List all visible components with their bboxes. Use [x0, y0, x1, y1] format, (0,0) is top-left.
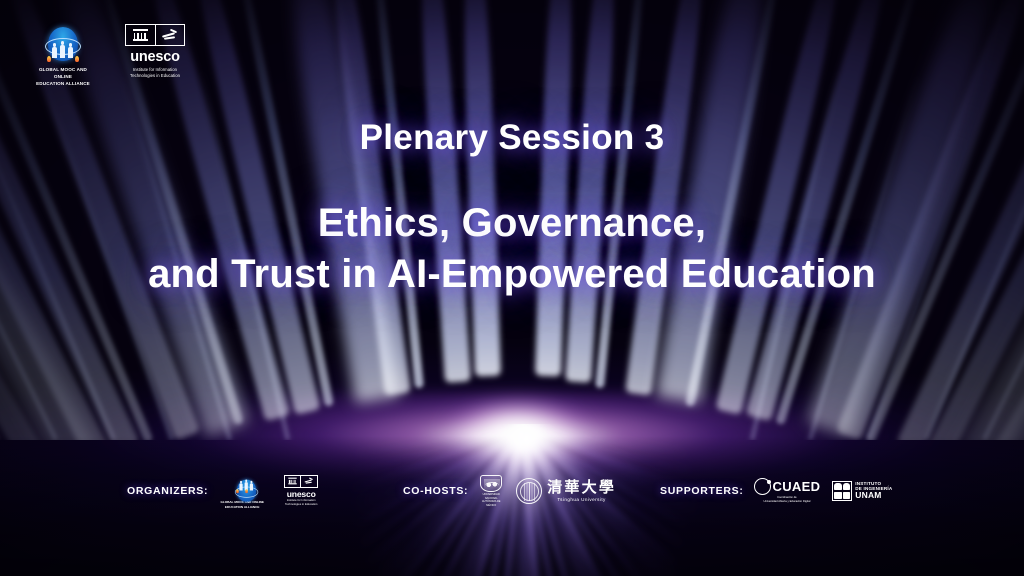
unesco-wordmark: unesco	[287, 490, 316, 499]
global-mooc-alliance-logo: GLOBAL MOOC AND ONLINE EDUCATION ALLIANC…	[30, 24, 96, 88]
cuaed-subtitle: Coordinación de Universidad Abierta y Ed…	[763, 496, 810, 504]
organizer-logo-global-mooc: GLOBAL MOOC AND ONLINE EDUCATION ALLIANC…	[218, 473, 266, 509]
supporters-label: SUPPORTERS:	[660, 485, 744, 497]
title-line-1: Ethics, Governance,	[0, 198, 1024, 249]
session-kicker: Plenary Session 3	[0, 118, 1024, 158]
supporter-logo-instituto-ingenieria: INSTITUTO DE INGENIERÍA UNAM	[832, 481, 892, 501]
unam-caption: UNIVERSIDAD NACIONAL AUTÓNOMA DE MÉXICO	[478, 493, 504, 507]
unesco-temple-dove-icon	[125, 24, 185, 46]
unesco-wordmark: unesco	[130, 50, 180, 65]
title-block: Plenary Session 3 Ethics, Governance, an…	[0, 118, 1024, 300]
header-logo-bar: GLOBAL MOOC AND ONLINE EDUCATION ALLIANC…	[30, 24, 192, 88]
instituto-ingenieria-wordmark: INSTITUTO DE INGENIERÍA UNAM	[855, 482, 892, 501]
tsinghua-name-en: Tsinghua University	[557, 497, 605, 502]
cohosts-logos: UNIVERSIDAD NACIONAL AUTÓNOMA DE MÉXICO …	[478, 475, 616, 507]
organizers-label: ORGANIZERS:	[127, 485, 208, 497]
title-line-2: and Trust in AI-Empowered Education	[0, 249, 1024, 300]
cohosts-label: CO-HOSTS:	[403, 485, 468, 497]
global-mooc-logo-text: GLOBAL MOOC AND ONLINE EDUCATION ALLIANC…	[30, 67, 96, 88]
unesco-iite-logo: unesco Institute for Information Technol…	[118, 24, 192, 80]
tsinghua-seal-icon	[516, 478, 542, 504]
global-mooc-logo-text: GLOBAL MOOC AND ONLINE EDUCATION ALLIANC…	[220, 500, 263, 509]
organizers-logos: GLOBAL MOOC AND ONLINE EDUCATION ALLIANC…	[218, 473, 324, 509]
presentation-slide: GLOBAL MOOC AND ONLINE EDUCATION ALLIANC…	[0, 0, 1024, 576]
unam-shield-icon	[480, 475, 502, 492]
credits-bar: ORGANIZERS: GLOBAL MOOC AND ONLINE EDUCA…	[0, 470, 1024, 512]
unesco-temple-dove-icon	[284, 475, 318, 488]
cuaed-ring-icon	[754, 478, 771, 495]
cuaed-wordmark: CUAED	[773, 479, 821, 494]
unesco-institute-subtitle: Institute for Information Technologies i…	[285, 499, 317, 507]
supporter-logo-cuaed: CUAED Coordinación de Universidad Abiert…	[754, 478, 821, 504]
unesco-institute-subtitle: Institute for Information Technologies i…	[130, 67, 180, 80]
global-mooc-globe-icon	[43, 24, 83, 64]
organizer-logo-unesco: unesco Institute for Information Technol…	[278, 475, 324, 508]
instituto-ingenieria-grid-icon	[832, 481, 852, 501]
global-mooc-globe-icon	[234, 478, 251, 495]
cohost-logo-unam: UNIVERSIDAD NACIONAL AUTÓNOMA DE MÉXICO	[478, 475, 504, 507]
tsinghua-wordmark: 清華大學 Tsinghua University	[547, 480, 616, 502]
supporters-logos: CUAED Coordinación de Universidad Abiert…	[754, 478, 893, 504]
cohost-logo-tsinghua: 清華大學 Tsinghua University	[516, 478, 616, 504]
page-title: Ethics, Governance, and Trust in AI-Empo…	[0, 198, 1024, 300]
supporters-group: SUPPORTERS: CUAED Coordinación de Univer…	[660, 478, 892, 504]
tsinghua-name-cn: 清華大學	[547, 480, 616, 496]
cohosts-group: CO-HOSTS: UNIVERSIDAD NACIONAL AUTÓNOMA …	[403, 475, 616, 507]
organizers-group: ORGANIZERS: GLOBAL MOOC AND ONLINE EDUCA…	[127, 473, 324, 509]
